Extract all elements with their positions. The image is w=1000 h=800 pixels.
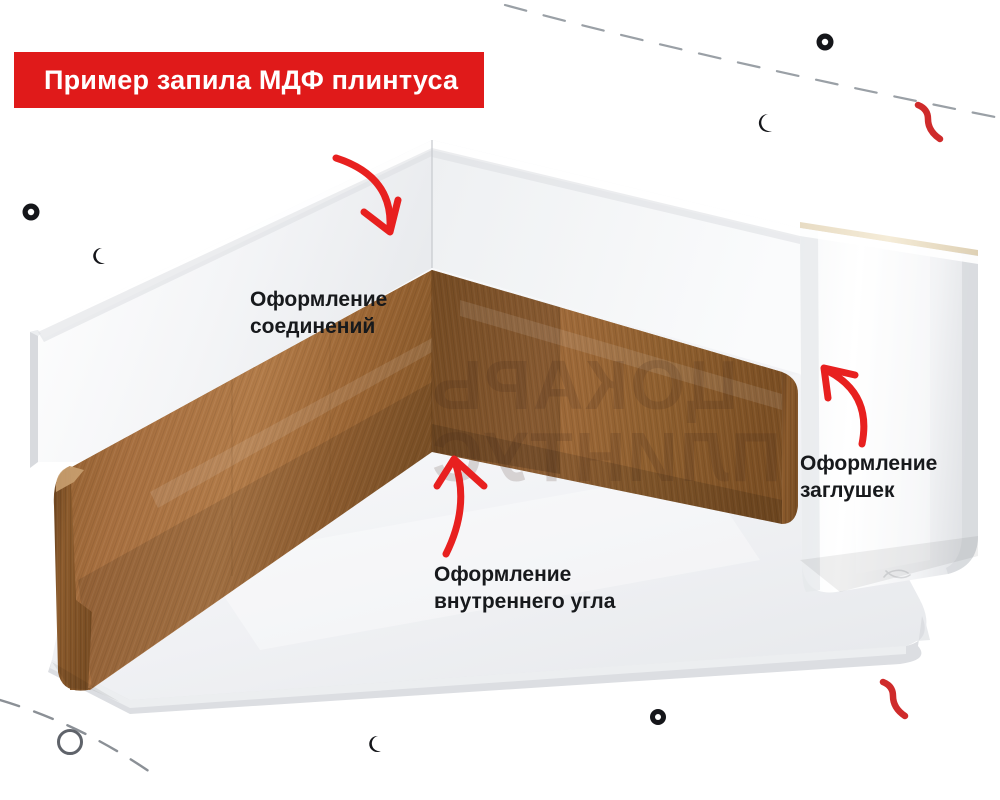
skirting-board-photo	[0, 0, 1000, 800]
callout-label-joints: Оформление соединений	[250, 287, 387, 341]
title-banner: Пример запила МДФ плинтуса	[14, 52, 484, 108]
title-banner-text: Пример запила МДФ плинтуса	[44, 67, 458, 94]
skirting-board-illustration	[0, 0, 1000, 800]
callout-label-inner-corner: Оформление внутреннего угла	[434, 562, 615, 616]
white-endcap-plate	[800, 222, 978, 592]
promo-image-canvas: ЦОКАРЬ ПЛИНТУС	[0, 0, 1000, 800]
callout-label-endcap: Оформление заглушек	[800, 451, 937, 505]
